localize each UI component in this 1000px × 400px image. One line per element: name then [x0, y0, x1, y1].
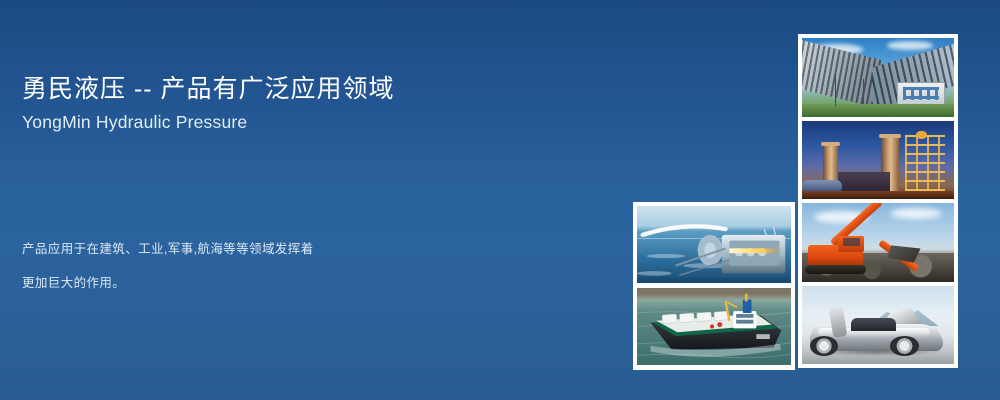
- petrochemical-plant-photo: [802, 121, 954, 200]
- gallery-frame-right: [798, 34, 958, 368]
- description-line-1: 产品应用于在建筑、工业,军事,航海等等领域发挥着: [22, 232, 582, 266]
- page-subtitle: YongMin Hydraulic Pressure: [22, 110, 612, 134]
- modern-architecture-photo: [802, 38, 954, 117]
- cargo-ship-photo: [637, 288, 791, 366]
- excavator-tracks: [805, 265, 866, 274]
- naval-missile-launch-photo: [637, 206, 791, 284]
- excavator-cab: [838, 236, 864, 252]
- refinery-plant-block: [838, 172, 890, 192]
- lamp-post: [835, 74, 836, 105]
- car-wheel: [890, 336, 919, 356]
- naval-missile-launch-illustration: [637, 206, 791, 283]
- page-title: 勇民液压 -- 产品有广泛应用领域: [22, 72, 612, 106]
- building-annex: [897, 82, 945, 106]
- concept-sports-car-photo: [802, 286, 954, 365]
- car-cockpit: [851, 318, 897, 331]
- description-line-2: 更加巨大的作用。: [22, 266, 582, 300]
- refinery-scaffolding: [905, 135, 945, 195]
- building-lawn: [802, 104, 954, 117]
- lamp-post: [863, 79, 864, 104]
- cargo-ship-illustration: [637, 288, 791, 365]
- refinery-ground: [802, 191, 954, 199]
- hero-banner: 勇民液压 -- 产品有广泛应用领域 YongMin Hydraulic Pres…: [0, 0, 1000, 400]
- cloud-shape: [890, 208, 942, 219]
- banner-description: 产品应用于在建筑、工业,军事,航海等等领域发挥着 更加巨大的作用。: [22, 232, 582, 300]
- excavator-demolition-photo: [802, 203, 954, 282]
- cloud-shape: [887, 41, 933, 50]
- banner-text-block: 勇民液压 -- 产品有广泛应用领域 YongMin Hydraulic Pres…: [22, 72, 612, 134]
- gallery-frame-left: [633, 202, 795, 370]
